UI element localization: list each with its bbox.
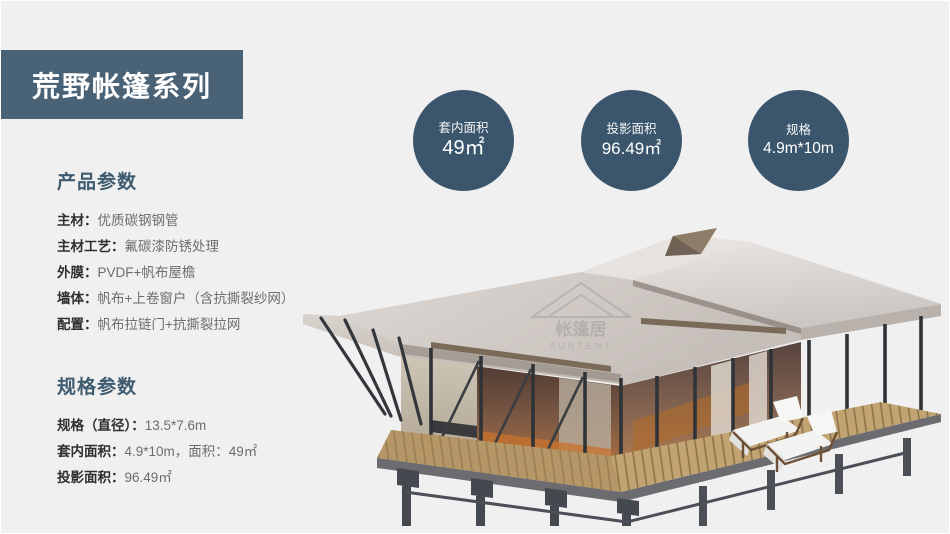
stat-badge-label: 规格 <box>786 124 811 138</box>
stat-badge-label: 投影面积 <box>606 123 656 137</box>
stat-badge-dimensions: 规格 4.9m*10m <box>748 90 849 191</box>
spec-label: 主材工艺： <box>57 239 125 254</box>
section-heading-product: 产品参数 <box>57 167 357 194</box>
stat-badge-value: 49㎡ <box>442 138 484 159</box>
spec-label: 规格（直径）： <box>57 418 145 433</box>
spec-label: 投影面积： <box>57 470 125 485</box>
stat-badge-projected-area: 投影面积 96.49㎡ <box>581 90 682 191</box>
spec-value: 帆布+上卷窗户（含抗撕裂纱网） <box>98 291 295 306</box>
spec-label: 配置： <box>57 317 98 332</box>
stat-badge-label: 套内面积 <box>438 122 488 136</box>
spec-label: 墙体： <box>57 291 98 306</box>
spec-value: 96.49㎡ <box>125 470 172 485</box>
stat-badge-value: 96.49㎡ <box>602 140 662 158</box>
spec-label: 外膜： <box>57 265 98 280</box>
spec-value: 氟碳漆防锈处理 <box>125 239 220 254</box>
stat-badge-interior-area: 套内面积 49㎡ <box>413 90 514 191</box>
spec-value: 4.9*10m，面积：49㎡ <box>125 444 258 459</box>
title-banner: 荒野帐篷系列 <box>1 50 243 119</box>
product-render-image <box>281 206 941 526</box>
page-root: 荒野帐篷系列 产品参数 主材：优质碳钢钢管 主材工艺：氟碳漆防锈处理 外膜：PV… <box>0 0 950 534</box>
stat-badge-value: 4.9m*10m <box>763 141 834 157</box>
page-title: 荒野帐篷系列 <box>32 65 212 105</box>
spec-value: 优质碳钢钢管 <box>98 213 179 228</box>
spec-value: 13.5*7.6m <box>145 418 207 433</box>
spec-label: 主材： <box>57 213 98 228</box>
spec-label: 套内面积： <box>57 444 125 459</box>
spec-value: PVDF+帆布屋檐 <box>98 265 196 280</box>
spec-value: 帆布拉链门+抗撕裂拉网 <box>98 317 241 332</box>
